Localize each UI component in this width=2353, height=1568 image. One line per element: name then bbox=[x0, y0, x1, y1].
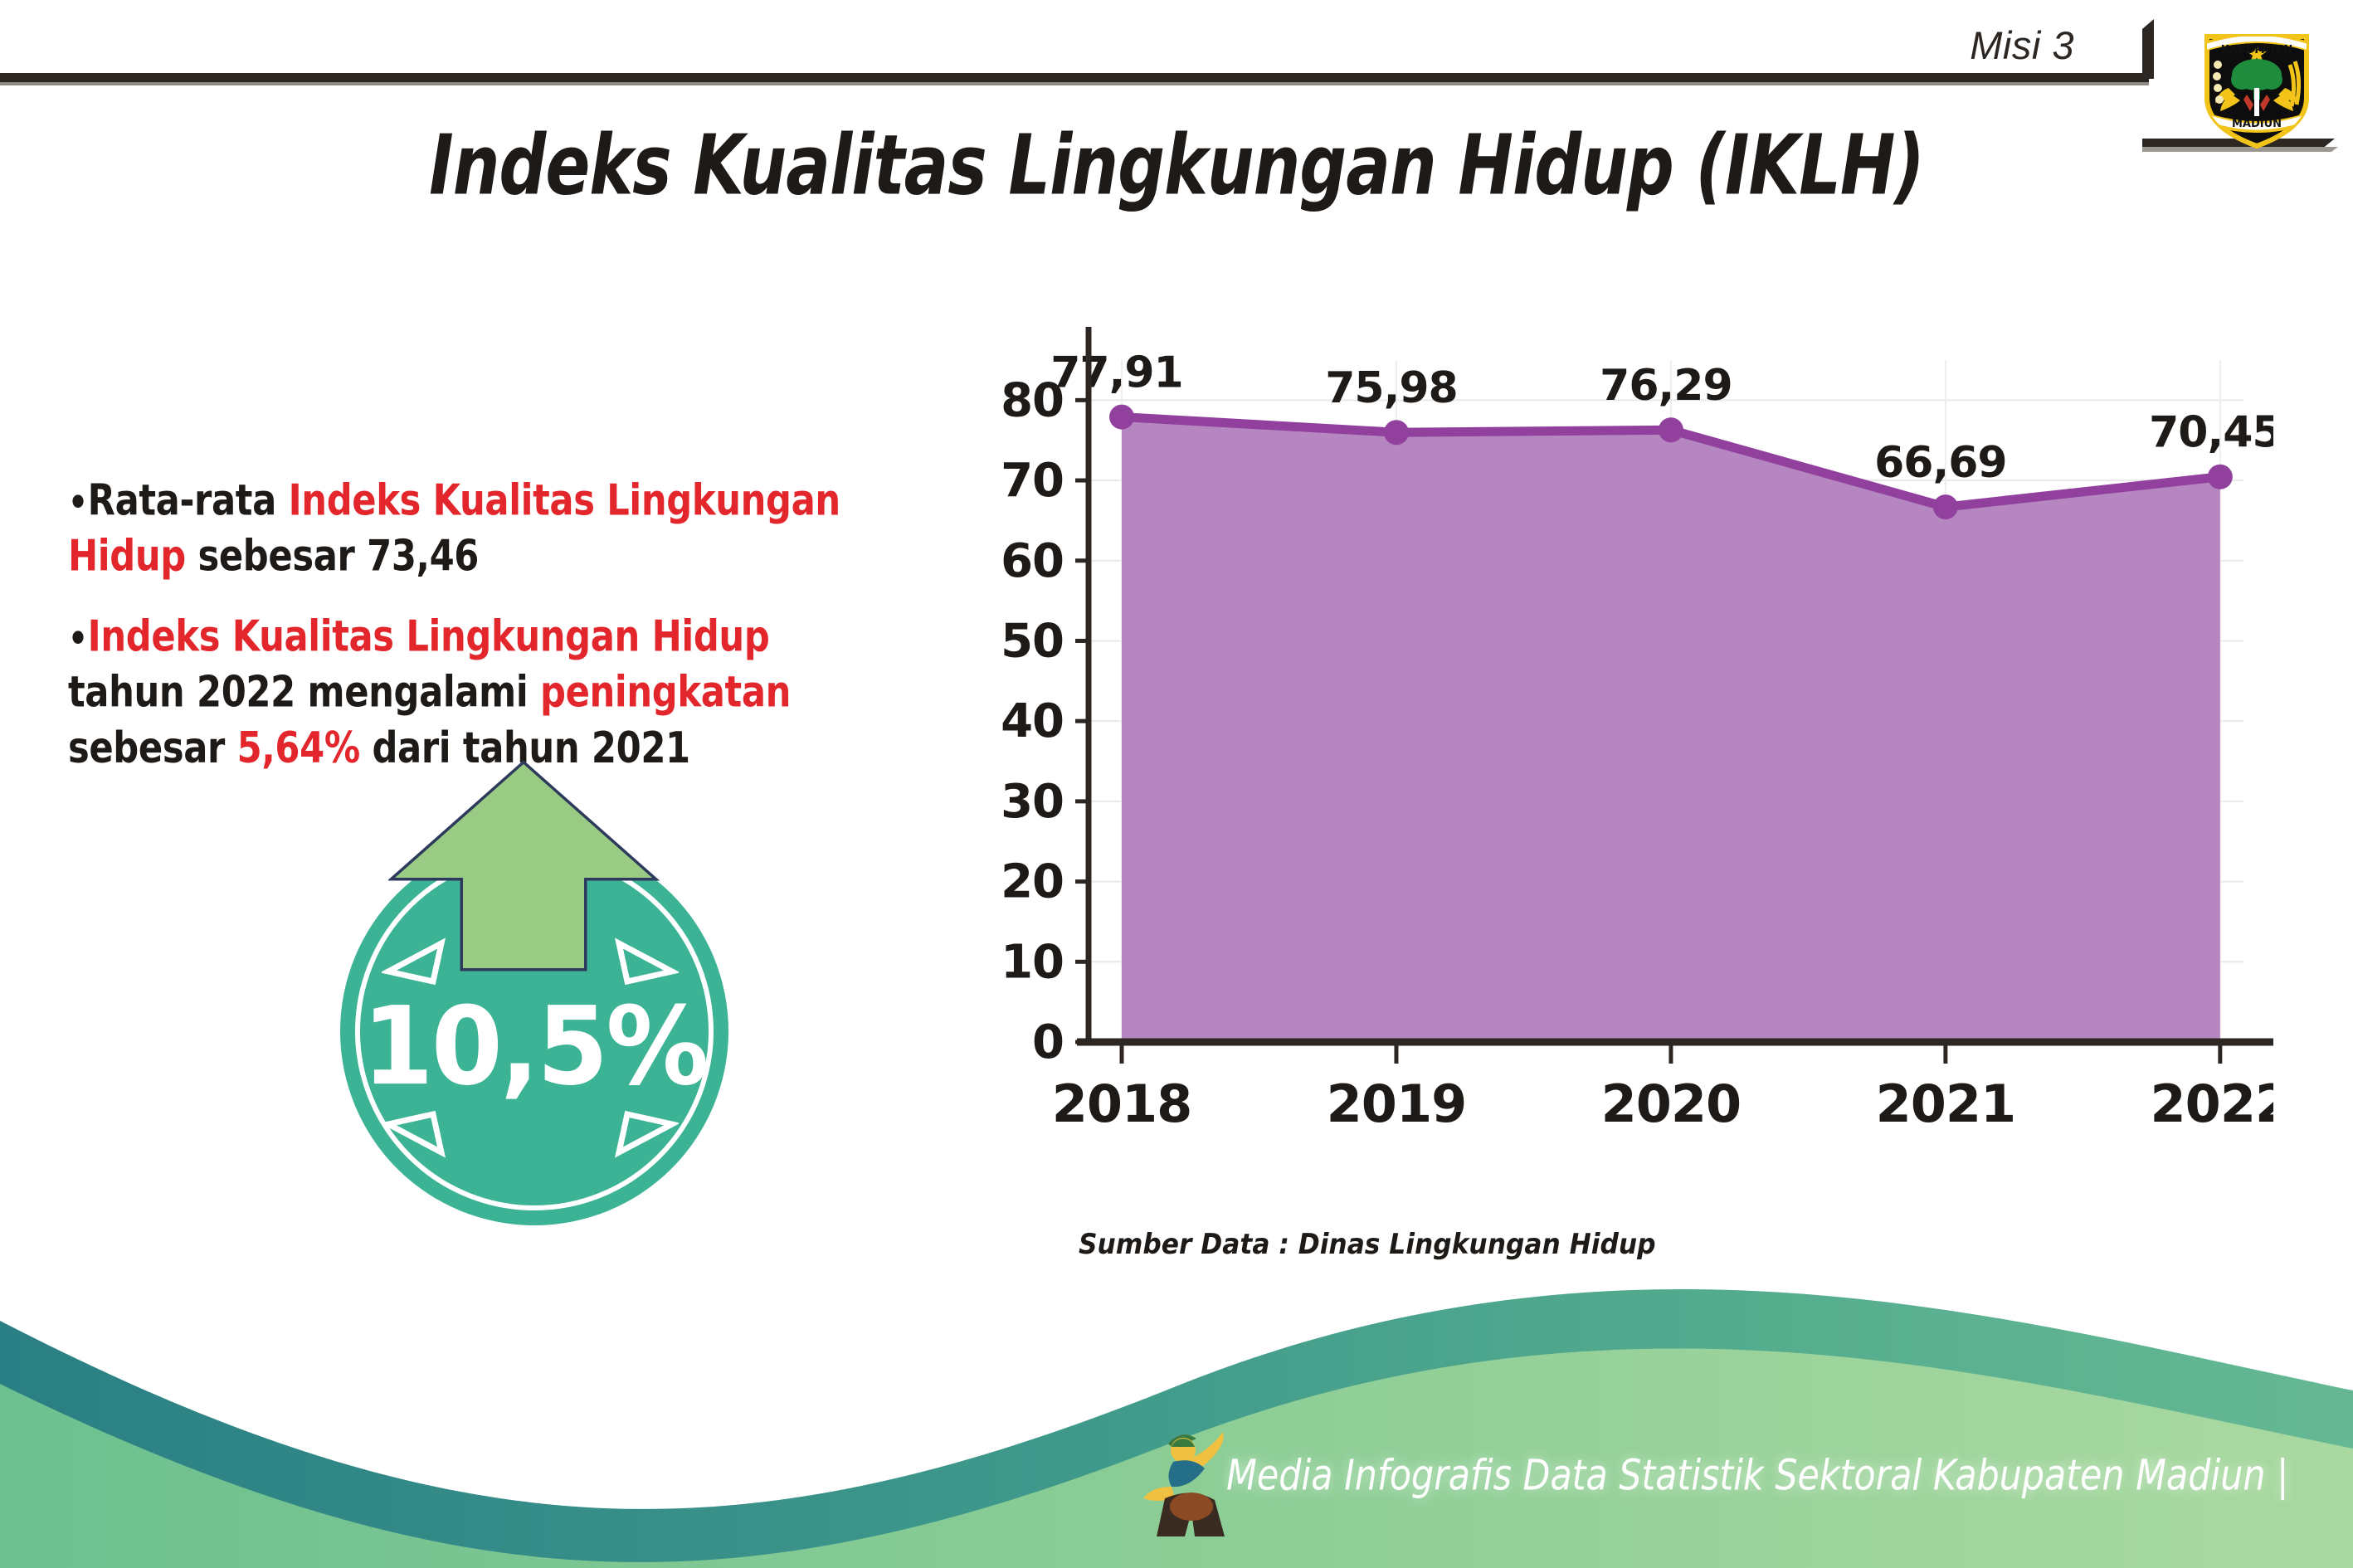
bullet-dot: • bbox=[68, 481, 88, 524]
data-point-label: 76,29 bbox=[1600, 361, 1732, 411]
bullet-1-part-3: sebesar bbox=[68, 722, 237, 772]
y-tick-label: 40 bbox=[1001, 694, 1064, 748]
x-tick-label: 2019 bbox=[1327, 1074, 1467, 1134]
bullet-0-part-0: Rata-rata bbox=[88, 475, 289, 524]
x-tick-label: 2022 bbox=[2151, 1074, 2273, 1134]
header-rule bbox=[0, 73, 2149, 82]
data-point-marker bbox=[1384, 420, 1409, 445]
bullet-1-part-1: tahun 2022 mengalami bbox=[68, 666, 540, 716]
bullet-1-part-2: peningkatan bbox=[540, 666, 791, 716]
bullet-0-part-2: sebesar 73,46 bbox=[186, 530, 479, 580]
x-tick-label: 2021 bbox=[1876, 1074, 2016, 1134]
data-point-label: 70,45 bbox=[2149, 408, 2273, 458]
bullet-dot: • bbox=[68, 617, 88, 660]
svg-text:KABUPATEN: KABUPATEN bbox=[2221, 44, 2293, 56]
chart-source-note: Sumber Data : Dinas Lingkungan Hidup bbox=[1079, 1228, 1656, 1261]
data-point-marker bbox=[1659, 417, 1683, 442]
iklh-area-chart: 77,9175,9876,2966,6970,45010203040506070… bbox=[979, 274, 2273, 1170]
data-point-label: 66,69 bbox=[1874, 438, 2006, 488]
area-fill bbox=[1122, 417, 2220, 1042]
y-tick-label: 30 bbox=[1001, 775, 1064, 829]
list-item: •Rata-rata Indeks Kualitas Lingkungan Hi… bbox=[68, 473, 871, 584]
data-point-label: 75,98 bbox=[1325, 363, 1457, 413]
y-tick-label: 0 bbox=[1032, 1015, 1064, 1069]
data-point-marker bbox=[1109, 405, 1134, 430]
y-tick-label: 80 bbox=[1001, 373, 1064, 427]
header-rule-shadow bbox=[0, 82, 2149, 85]
y-tick-label: 50 bbox=[1001, 614, 1064, 668]
bullet-text-1: Indeks Kualitas Lingkungan Hidup tahun 2… bbox=[68, 611, 791, 772]
bullet-list: •Rata-rata Indeks Kualitas Lingkungan Hi… bbox=[68, 473, 923, 794]
data-point-marker bbox=[1933, 494, 1958, 519]
bullet-1-part-0: Indeks Kualitas Lingkungan Hidup bbox=[88, 611, 770, 660]
misi-label: Misi 3 bbox=[1970, 22, 2074, 68]
x-tick-label: 2020 bbox=[1601, 1074, 1742, 1134]
y-tick-label: 20 bbox=[1001, 855, 1064, 909]
data-point-label: 77,91 bbox=[1050, 348, 1182, 398]
badge-value: 10,5% bbox=[340, 984, 728, 1109]
logo-bracket-vertical bbox=[2142, 19, 2154, 79]
list-item: •Indeks Kualitas Lingkungan Hidup tahun … bbox=[68, 609, 871, 776]
y-tick-label: 10 bbox=[1001, 935, 1064, 989]
chart-canvas: 77,9175,9876,2966,6970,45010203040506070… bbox=[979, 274, 2273, 1170]
y-tick-label: 70 bbox=[1001, 454, 1064, 508]
x-tick-label: 2018 bbox=[1052, 1074, 1192, 1134]
y-tick-label: 60 bbox=[1001, 534, 1064, 588]
bullet-text-0: Rata-rata Indeks Kualitas Lingkungan Hid… bbox=[68, 475, 840, 580]
data-point-marker bbox=[2208, 465, 2233, 489]
footer-text: Media Infografis Data Statistik Sektoral… bbox=[1226, 1450, 2288, 1499]
increase-badge: 10,5% bbox=[330, 759, 770, 1215]
page-title: Indeks Kualitas Lingkungan Hidup (IKLH) bbox=[36, 118, 2318, 214]
